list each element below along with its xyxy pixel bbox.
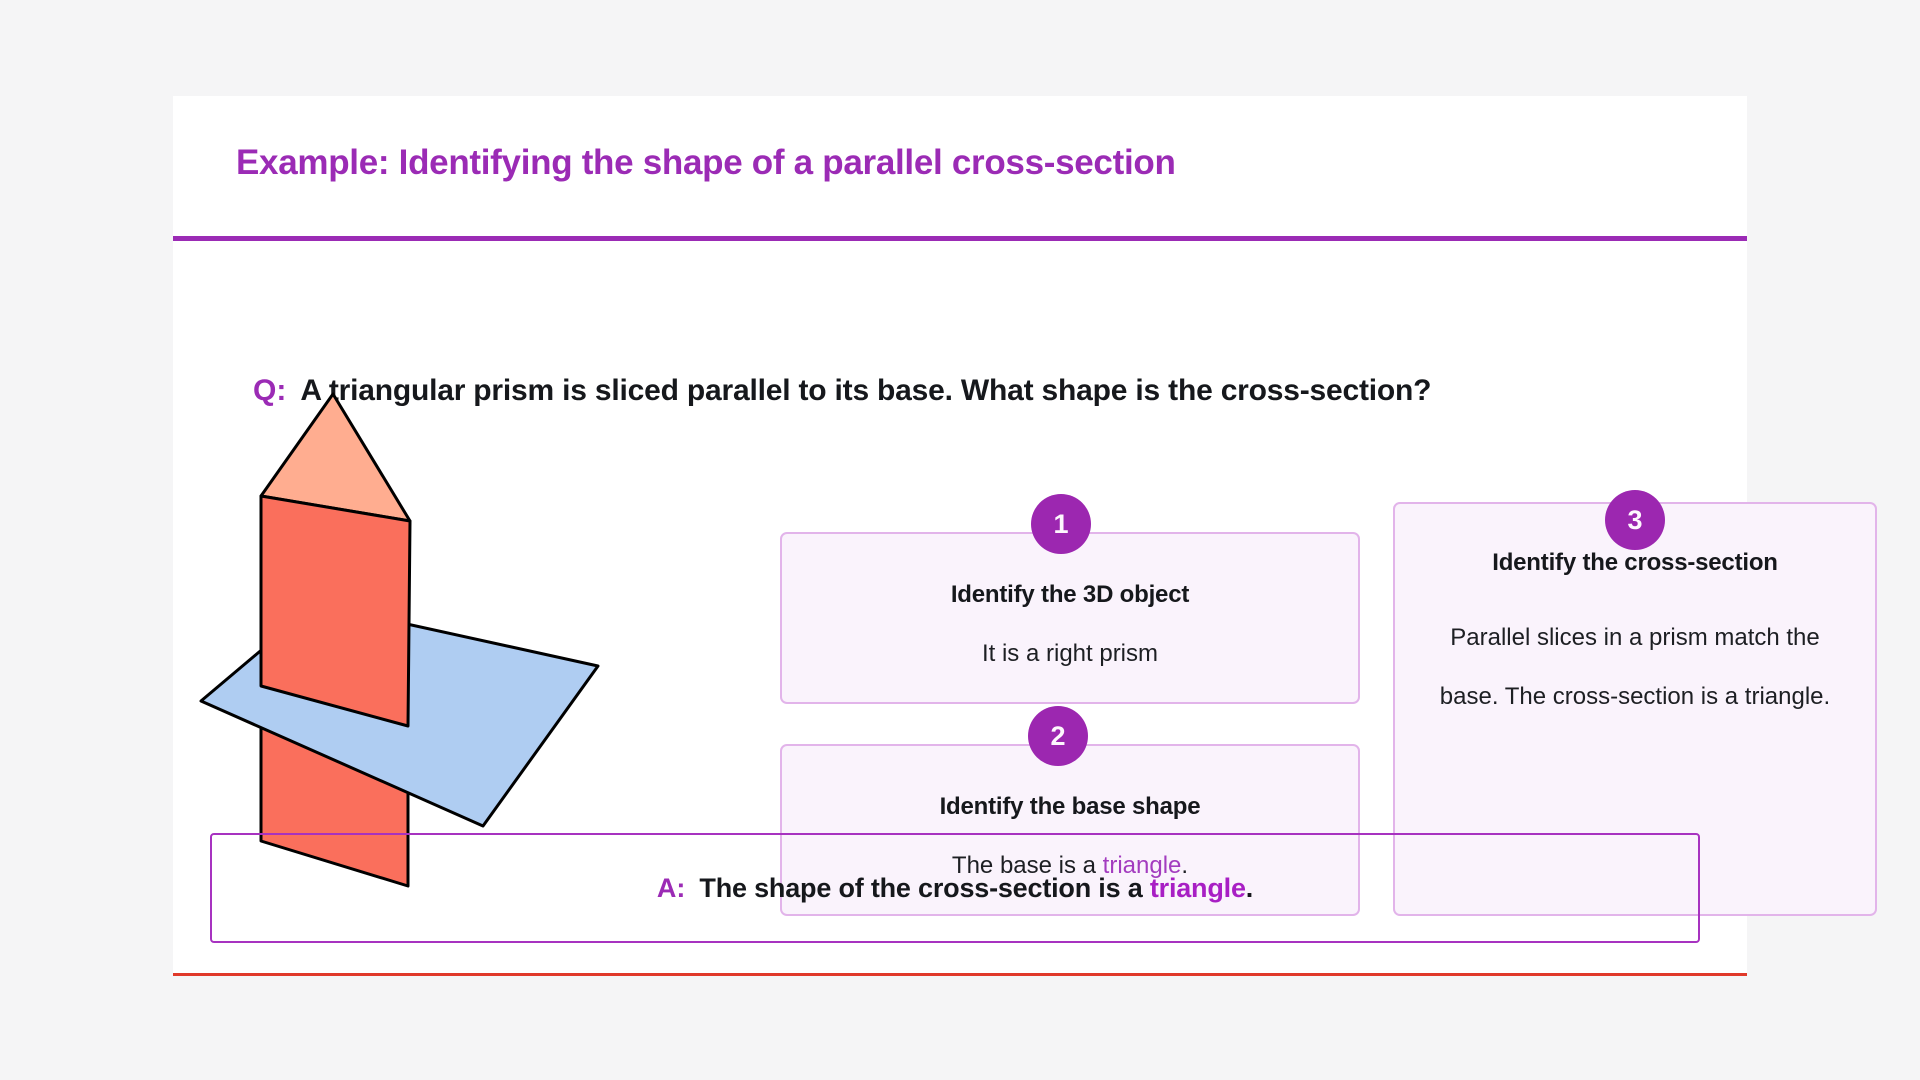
panel-header: Example: Identifying the shape of a para… xyxy=(173,96,1747,241)
step-badge-3: 3 xyxy=(1605,490,1665,550)
step-card-3-title: Identify the cross-section xyxy=(1395,549,1875,577)
step-card-2-title: Identify the base shape xyxy=(782,793,1358,821)
step-card-1-body-text: It is a right prism xyxy=(982,640,1158,667)
step-card-1[interactable]: Identify the 3D object It is a right pri… xyxy=(780,532,1360,704)
prism-cross-section-figure xyxy=(198,386,618,906)
answer-text: The shape of the cross-section is a tria… xyxy=(699,873,1253,904)
answer-bar: A: The shape of the cross-section is a t… xyxy=(210,833,1700,943)
lesson-panel: Example: Identifying the shape of a para… xyxy=(173,96,1747,976)
answer-suffix: . xyxy=(1246,873,1253,903)
answer-prefix: The shape of the cross-section is a xyxy=(699,873,1149,903)
step-badge-1: 1 xyxy=(1031,494,1091,554)
step-card-3-body: Parallel slices in a prism match the bas… xyxy=(1421,608,1849,726)
step-card-1-body: It is a right prism xyxy=(782,640,1358,668)
step-card-1-title: Identify the 3D object xyxy=(782,581,1358,609)
step-badge-2: 2 xyxy=(1028,706,1088,766)
prism-diagram-svg xyxy=(198,386,618,906)
answer-highlight: triangle xyxy=(1150,873,1246,903)
page-title: Example: Identifying the shape of a para… xyxy=(236,143,1176,183)
answer-label: A: xyxy=(657,873,686,904)
prism-upper-body xyxy=(261,496,410,726)
